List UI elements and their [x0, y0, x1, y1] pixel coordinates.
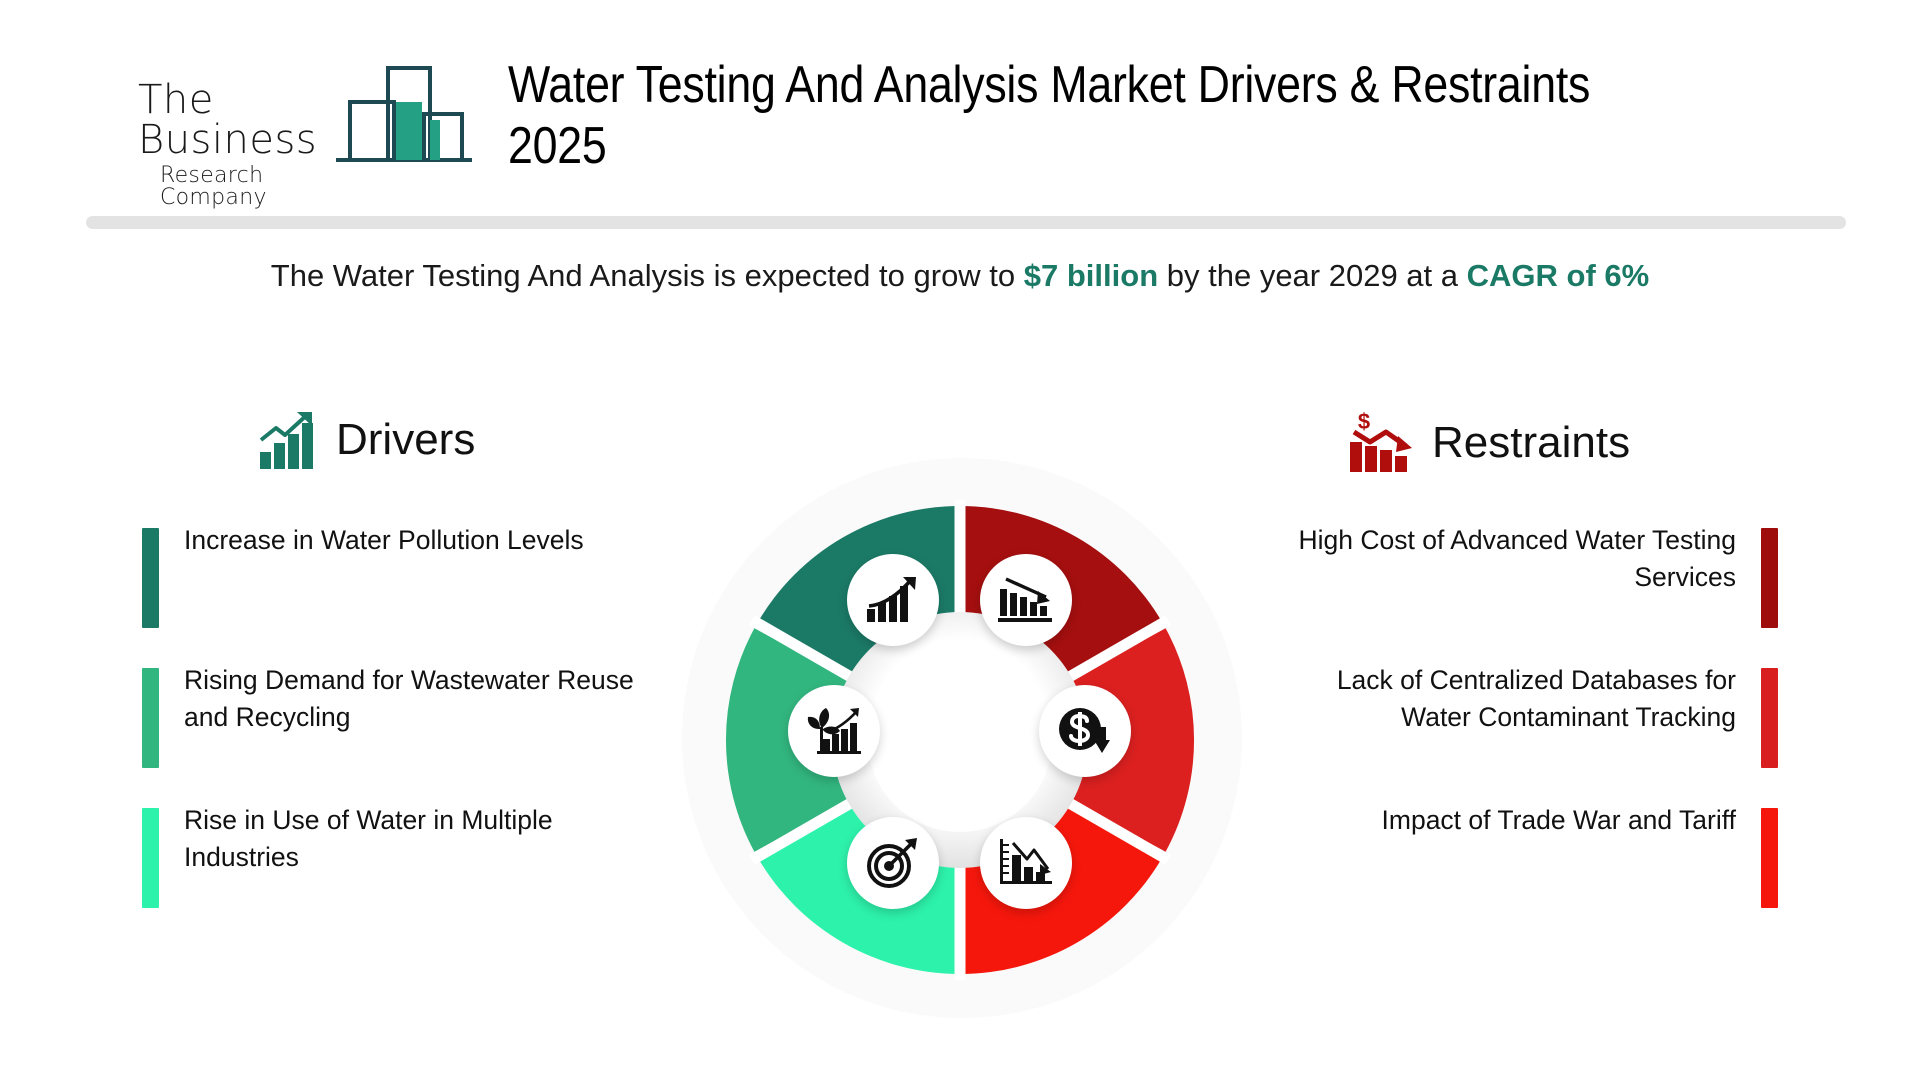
growth-arrow-chart-icon — [866, 575, 920, 625]
restraint-item: High Cost of Advanced Water Testing Serv… — [1258, 522, 1778, 662]
drivers-heading: Drivers — [258, 410, 475, 470]
restraint-accent-bar — [1761, 668, 1778, 768]
restraint-item: Impact of Trade War and Tariff — [1258, 802, 1778, 942]
driver-accent-bar — [142, 528, 159, 628]
drivers-heading-label: Drivers — [336, 415, 475, 465]
restraint-label: High Cost of Advanced Water Testing Serv… — [1270, 522, 1736, 596]
svg-text:$: $ — [1358, 412, 1370, 434]
driver-accent-bar — [142, 668, 159, 768]
driver-accent-bar — [142, 808, 159, 908]
restraints-heading: $ Restraints — [1348, 412, 1630, 474]
drivers-restraints-wheel — [660, 440, 1260, 1040]
company-logo: The Business Research Company — [138, 58, 468, 168]
market-value: $7 billion — [1024, 258, 1158, 293]
market-summary: The Water Testing And Analysis is expect… — [0, 258, 1920, 294]
wheel-badge-plant-growth — [788, 685, 880, 777]
restraint-accent-bar — [1761, 808, 1778, 908]
driver-label: Rising Demand for Wastewater Reuse and R… — [184, 662, 650, 736]
page-title: Water Testing And Analysis Market Driver… — [508, 55, 1678, 177]
header-divider — [86, 216, 1846, 229]
growth-bar-chart-icon — [258, 410, 320, 470]
restraint-accent-bar — [1761, 528, 1778, 628]
restraint-item: Lack of Centralized Databases for Water … — [1258, 662, 1778, 802]
driver-item: Rising Demand for Wastewater Reuse and R… — [142, 662, 662, 802]
infographic-page: The Business Research Company Water Test… — [0, 0, 1920, 1080]
logo-text: The Business Research Company — [138, 80, 343, 209]
logo-line-2: Research Company — [160, 165, 343, 209]
driver-label: Increase in Water Pollution Levels — [184, 522, 650, 559]
restraint-label: Lack of Centralized Databases for Water … — [1270, 662, 1736, 736]
wheel-badge-declining-line — [980, 817, 1072, 909]
wheel-segments — [660, 440, 1260, 1040]
logo-line-1: The Business — [138, 80, 343, 160]
restraints-list: High Cost of Advanced Water Testing Serv… — [1258, 522, 1778, 942]
wheel-badge-declining-bars — [980, 554, 1072, 646]
wheel-badge-target — [847, 817, 939, 909]
drivers-list: Increase in Water Pollution Levels Risin… — [142, 522, 662, 942]
summary-part-2: by the year 2029 at a — [1158, 258, 1467, 293]
restraints-heading-label: Restraints — [1432, 418, 1630, 468]
header: The Business Research Company Water Test… — [0, 0, 1920, 205]
declining-bar-chart-dollar-icon: $ — [1348, 412, 1416, 474]
restraint-label: Impact of Trade War and Tariff — [1270, 802, 1736, 839]
dollar-down-arrow-icon — [1057, 705, 1113, 757]
summary-part-1: The Water Testing And Analysis is expect… — [271, 258, 1024, 293]
driver-label: Rise in Use of Water in Multiple Industr… — [184, 802, 650, 876]
plant-growth-chart-icon — [805, 705, 863, 757]
wheel-badge-growth-arrow — [847, 554, 939, 646]
declining-line-chart-icon — [998, 837, 1054, 889]
declining-bars-arrow-icon — [998, 575, 1054, 625]
cagr-value: CAGR of 6% — [1467, 258, 1650, 293]
bar-chart-logo-icon — [334, 58, 474, 168]
target-arrow-icon — [866, 837, 920, 889]
wheel-badge-dollar-down — [1039, 685, 1131, 777]
driver-item: Rise in Use of Water in Multiple Industr… — [142, 802, 662, 942]
driver-item: Increase in Water Pollution Levels — [142, 522, 662, 662]
